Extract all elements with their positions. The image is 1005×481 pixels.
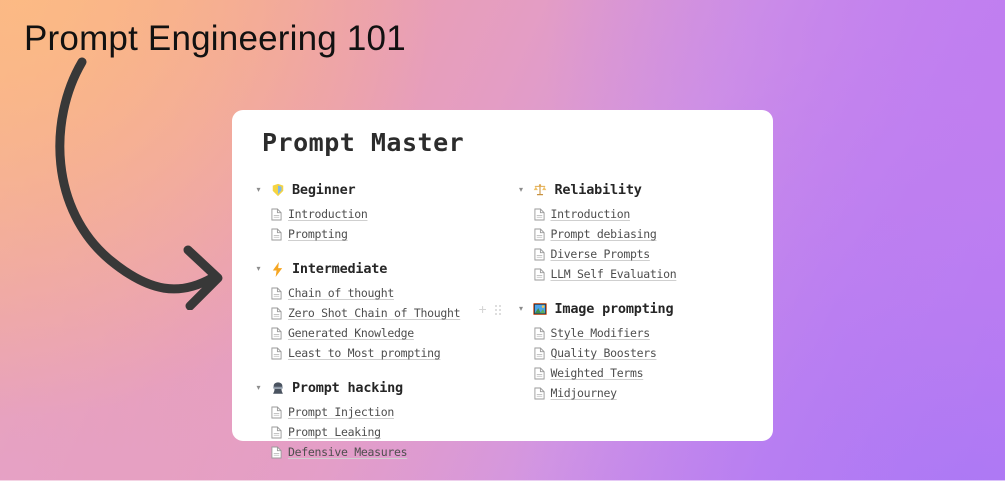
list-item[interactable]: Prompt Injection: [254, 402, 503, 422]
section-prompt-hacking: ▾ Prompt hacking: [254, 377, 503, 462]
chevron-down-icon[interactable]: ▾: [517, 186, 526, 194]
beginner-badge-icon: [270, 183, 285, 198]
list-item[interactable]: Midjourney: [517, 383, 752, 403]
section-label: Intermediate: [292, 261, 387, 277]
ninja-icon: [270, 381, 285, 396]
page-link[interactable]: LLM Self Evaluation: [551, 267, 677, 281]
curved-arrow-annotation: [40, 50, 260, 310]
list-item[interactable]: Generated Knowledge: [254, 323, 503, 343]
list-item[interactable]: Least to Most prompting: [254, 343, 503, 363]
document-icon: [534, 208, 545, 221]
document-icon: [271, 347, 282, 360]
section-intermediate: ▾ Intermediate Chain of thought: [254, 258, 503, 363]
list-item[interactable]: Diverse Prompts: [517, 244, 752, 264]
balance-scale-icon: [533, 183, 548, 198]
list-item[interactable]: Prompting: [254, 224, 503, 244]
list-item[interactable]: Zero Shot Chain of Thought: [254, 303, 503, 323]
prompt-master-card: Prompt Master ▾ Beginner: [232, 110, 773, 441]
page-link[interactable]: Quality Boosters: [551, 346, 657, 360]
document-icon: [534, 228, 545, 241]
document-icon: [271, 446, 282, 459]
framed-picture-icon: [533, 302, 548, 317]
chevron-down-icon[interactable]: ▾: [254, 265, 263, 273]
list-item[interactable]: Weighted Terms: [517, 363, 752, 383]
page-link[interactable]: Midjourney: [551, 386, 617, 400]
chevron-down-icon[interactable]: ▾: [517, 305, 526, 313]
page-link[interactable]: Weighted Terms: [551, 366, 644, 380]
drag-handle-icon[interactable]: [494, 303, 502, 315]
list-item[interactable]: Style Modifiers: [517, 323, 752, 343]
document-icon: [534, 387, 545, 400]
section-label: Beginner: [292, 182, 355, 198]
section-reliability: ▾ Reliability: [517, 179, 752, 284]
card-columns: ▾ Beginner Introduction: [254, 179, 751, 462]
document-icon: [534, 268, 545, 281]
document-icon: [271, 426, 282, 439]
document-icon: [271, 307, 282, 320]
page-link[interactable]: Zero Shot Chain of Thought: [288, 306, 460, 320]
add-block-icon[interactable]: +: [479, 302, 487, 316]
page-link[interactable]: Introduction: [288, 207, 367, 221]
page-link[interactable]: Style Modifiers: [551, 326, 650, 340]
list-item[interactable]: Introduction: [517, 204, 752, 224]
list-item[interactable]: Introduction: [254, 204, 503, 224]
chevron-down-icon[interactable]: ▾: [254, 186, 263, 194]
page-link[interactable]: Introduction: [551, 207, 630, 221]
section-image-prompting: + ▾: [517, 298, 752, 403]
page-link[interactable]: Chain of thought: [288, 286, 394, 300]
column-right: ▾ Reliability: [503, 179, 752, 462]
document-icon: [271, 228, 282, 241]
list-item[interactable]: Defensive Measures: [254, 442, 503, 462]
list-item[interactable]: Prompt debiasing: [517, 224, 752, 244]
section-header-prompt-hacking[interactable]: ▾ Prompt hacking: [254, 377, 503, 399]
section-header-intermediate[interactable]: ▾ Intermediate: [254, 258, 503, 280]
card-title: Prompt Master: [262, 128, 751, 157]
page-title: Prompt Engineering 101: [24, 20, 406, 59]
page-link[interactable]: Prompt Injection: [288, 405, 394, 419]
section-beginner: ▾ Beginner Introduction: [254, 179, 503, 244]
page-link[interactable]: Prompt Leaking: [288, 425, 381, 439]
page-link[interactable]: Diverse Prompts: [551, 247, 650, 261]
document-icon: [534, 327, 545, 340]
page-link[interactable]: Prompt debiasing: [551, 227, 657, 241]
section-header-beginner[interactable]: ▾ Beginner: [254, 179, 503, 201]
document-icon: [271, 208, 282, 221]
section-header-reliability[interactable]: ▾ Reliability: [517, 179, 752, 201]
column-left: ▾ Beginner Introduction: [254, 179, 503, 462]
document-icon: [271, 327, 282, 340]
section-header-image-prompting[interactable]: + ▾: [517, 298, 752, 320]
page-link[interactable]: Generated Knowledge: [288, 326, 414, 340]
list-item[interactable]: Chain of thought: [254, 283, 503, 303]
page-link[interactable]: Least to Most prompting: [288, 346, 440, 360]
document-icon: [271, 406, 282, 419]
list-item[interactable]: LLM Self Evaluation: [517, 264, 752, 284]
page-link[interactable]: Prompting: [288, 227, 348, 241]
section-label: Reliability: [555, 182, 642, 198]
lightning-bolt-icon: [270, 262, 285, 277]
chevron-down-icon[interactable]: ▾: [254, 384, 263, 392]
poster-canvas: Prompt Engineering 101 Prompt Master ▾: [0, 0, 1005, 481]
section-label: Prompt hacking: [292, 380, 403, 396]
row-hover-controls: +: [479, 302, 502, 316]
document-icon: [534, 367, 545, 380]
document-icon: [271, 287, 282, 300]
list-item[interactable]: Prompt Leaking: [254, 422, 503, 442]
document-icon: [534, 248, 545, 261]
document-icon: [534, 347, 545, 360]
list-item[interactable]: Quality Boosters: [517, 343, 752, 363]
page-link[interactable]: Defensive Measures: [288, 445, 407, 459]
section-label: Image prompting: [555, 301, 674, 317]
